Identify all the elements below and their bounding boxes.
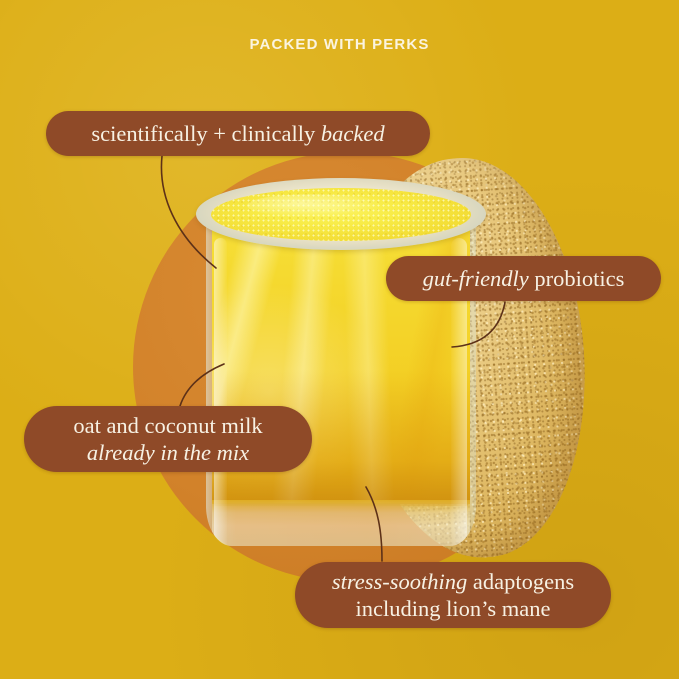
callout-scientifically-clinically-backed: scientifically + clinically backed	[46, 111, 430, 156]
callout-text-roman: adaptogens	[467, 569, 574, 594]
callout-line: scientifically + clinically backed	[91, 120, 384, 147]
glass-rim	[196, 178, 486, 250]
callout-line-two: including lion’s mane	[356, 595, 551, 622]
callout-line: gut-friendly probiotics	[423, 265, 625, 292]
glass-base	[212, 500, 470, 546]
callout-line-one: oat and coconut milk	[73, 412, 262, 439]
callout-text-italic: gut-friendly	[423, 266, 529, 291]
callout-line-one: stress-soothing adaptogens	[332, 568, 574, 595]
callout-stress-soothing-adaptogens: stress-soothing adaptogens including lio…	[295, 562, 611, 628]
glass-of-golden-latte	[196, 178, 486, 558]
callout-text-roman: probiotics	[529, 266, 625, 291]
drink-surface	[211, 188, 471, 241]
callout-gut-friendly-probiotics: gut-friendly probiotics	[386, 256, 661, 301]
drink-surface-sheen	[247, 194, 382, 216]
page-title: PACKED WITH PERKS	[0, 36, 679, 53]
glass-left-highlight	[214, 238, 227, 546]
callout-text-roman: scientifically + clinically	[91, 121, 320, 146]
callout-oat-and-coconut-milk: oat and coconut milk already in the mix	[24, 406, 312, 472]
marketing-image-canvas: PACKED WITH PERKS scientifically + clini…	[0, 0, 679, 679]
callout-text-italic: backed	[321, 121, 385, 146]
callout-text-italic: stress-soothing	[332, 569, 467, 594]
callout-line-two: already in the mix	[87, 439, 249, 466]
